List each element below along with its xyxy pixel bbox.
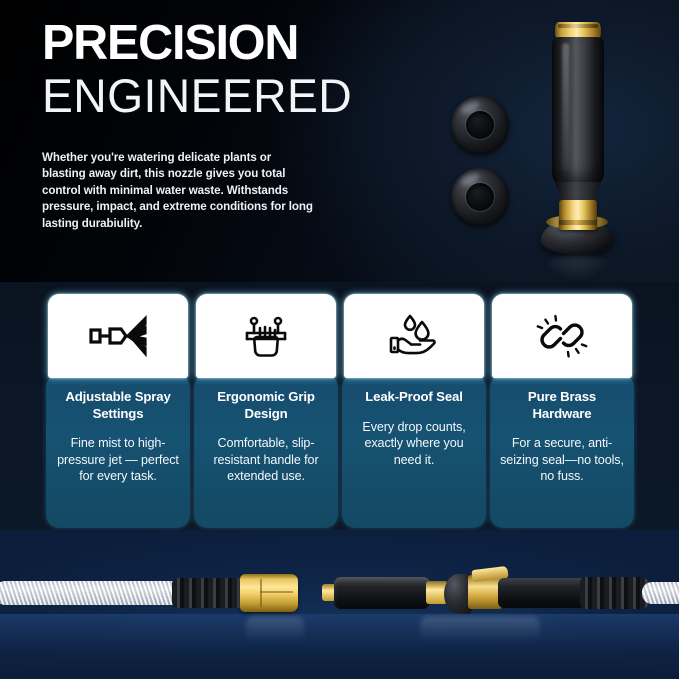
nozzle-illustration (533, 22, 619, 242)
feature-card-ergonomic-grip[interactable]: Ergonomic Grip Design Comfortable, slip-… (194, 294, 338, 528)
nozzle-brass-collar (559, 200, 597, 230)
feature-cards-section: Adjustable Spray Settings Fine mist to h… (0, 282, 679, 530)
hose-braided-section (642, 582, 679, 604)
feature-card-description: Comfortable, slip-resistant handle for e… (201, 435, 331, 485)
nozzle-reflection (543, 254, 611, 280)
washer-ring-icon (451, 168, 509, 226)
hand-grip-icon (234, 311, 298, 361)
hero-description: Whether you're watering delicate plants … (42, 150, 314, 232)
feature-card-description: Every drop counts, exactly where you nee… (349, 419, 479, 469)
feature-card-adjustable-spray[interactable]: Adjustable Spray Settings Fine mist to h… (46, 294, 190, 528)
feature-card-icon-panel (344, 294, 484, 378)
feature-card-text-panel: Ergonomic Grip Design Comfortable, slip-… (194, 375, 338, 528)
feature-card-list: Adjustable Spray Settings Fine mist to h… (46, 294, 634, 528)
feature-card-pure-brass-hardware[interactable]: Pure Brass Hardware For a secure, anti-s… (490, 294, 634, 528)
hose-black-body (498, 578, 586, 608)
washer-hole (466, 183, 494, 211)
nozzle-reflection (420, 616, 540, 646)
hose-braided-section (0, 581, 182, 605)
title-line-light: ENGINEERED (42, 70, 352, 122)
feature-card-title: Pure Brass Hardware (497, 389, 627, 422)
feature-card-title: Ergonomic Grip Design (201, 389, 331, 422)
nozzle-black-handle (334, 577, 430, 609)
spray-nozzle-icon (86, 311, 150, 361)
feature-card-icon-panel (48, 294, 188, 378)
feature-card-text-panel: Leak-Proof Seal Every drop counts, exact… (342, 375, 486, 528)
feature-card-description: For a secure, anti-seizing seal—no tools… (497, 435, 627, 485)
hero-section: PRECISION ENGINEERED Whether you're wate… (0, 0, 679, 282)
feature-card-text-panel: Adjustable Spray Settings Fine mist to h… (46, 375, 190, 528)
hose-with-brass-connector (0, 572, 294, 614)
title-line-bold: PRECISION (42, 19, 354, 68)
hose-ribbed-sleeve (580, 577, 648, 609)
photo-floor (0, 614, 679, 679)
feature-card-description: Fine mist to high-pressure jet — perfect… (53, 435, 183, 485)
hand-water-drop-icon (382, 311, 446, 361)
feature-card-leak-proof-seal[interactable]: Leak-Proof Seal Every drop counts, exact… (342, 294, 486, 528)
washer-ring-icon (451, 96, 509, 154)
nozzle-barrel (552, 37, 604, 187)
nozzle-assembly-with-hose (322, 570, 679, 616)
chain-link-icon (530, 311, 594, 361)
feature-card-title: Leak-Proof Seal (365, 389, 462, 406)
product-photo-nozzle (429, 0, 679, 282)
feature-card-title: Adjustable Spray Settings (53, 389, 183, 422)
washer-hole (466, 111, 494, 139)
bottom-product-photo (0, 530, 679, 679)
brass-connector (240, 574, 298, 612)
hose-reflection (246, 616, 304, 646)
page-title: PRECISION ENGINEERED (42, 19, 357, 122)
feature-card-icon-panel (196, 294, 336, 378)
feature-card-icon-panel (492, 294, 632, 378)
feature-card-text-panel: Pure Brass Hardware For a secure, anti-s… (490, 375, 634, 528)
hose-black-sleeve (172, 578, 244, 608)
